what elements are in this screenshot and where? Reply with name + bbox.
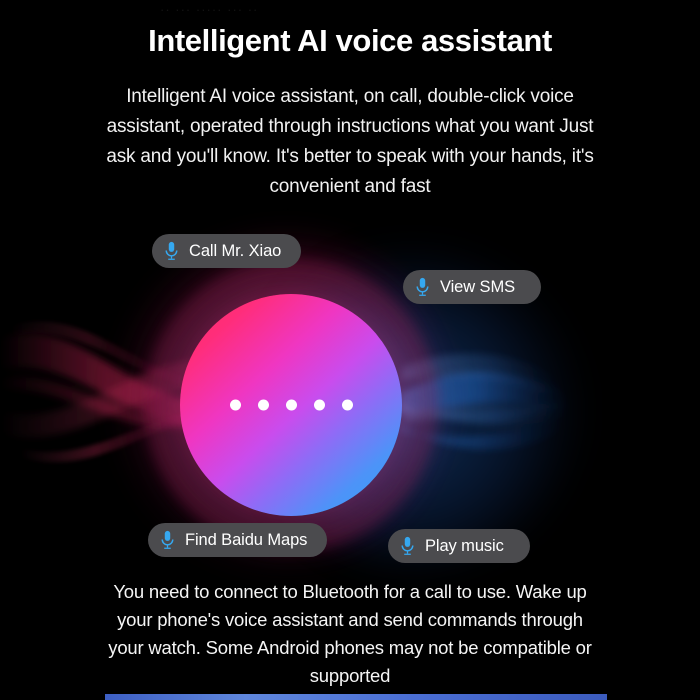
voice-command-label: Call Mr. Xiao (189, 242, 281, 261)
microphone-icon (400, 536, 415, 556)
voice-command-label: Find Baidu Maps (185, 531, 307, 550)
microphone-icon (160, 530, 175, 550)
voice-command-view-sms[interactable]: View SMS (403, 270, 541, 304)
cropped-text-artifact: ·· ··· ····· ··· ·· (160, 2, 560, 18)
bottom-accent-bar (105, 694, 607, 700)
listening-dot (342, 400, 353, 411)
listening-dot (286, 400, 297, 411)
voice-assistant-stage: Call Mr. Xiao View SMS Find Baidu Maps (0, 218, 700, 578)
voice-command-call-mr-xiao[interactable]: Call Mr. Xiao (152, 234, 301, 268)
page-title: Intelligent AI voice assistant (0, 22, 700, 60)
voice-assistant-orb[interactable] (180, 294, 402, 516)
listening-dots (180, 400, 402, 411)
voice-command-find-baidu-maps[interactable]: Find Baidu Maps (148, 523, 327, 557)
voice-command-play-music[interactable]: Play music (388, 529, 530, 563)
listening-dot (230, 400, 241, 411)
listening-dot (314, 400, 325, 411)
voice-command-label: Play music (425, 537, 504, 556)
listening-dot (258, 400, 269, 411)
compatibility-note: You need to connect to Bluetooth for a c… (105, 578, 595, 690)
intro-paragraph: Intelligent AI voice assistant, on call,… (95, 82, 605, 202)
microphone-icon (415, 277, 430, 297)
promo-page: ·· ··· ····· ··· ·· Intelligent AI voice… (0, 0, 700, 700)
microphone-icon (164, 241, 179, 261)
voice-command-label: View SMS (440, 278, 515, 297)
